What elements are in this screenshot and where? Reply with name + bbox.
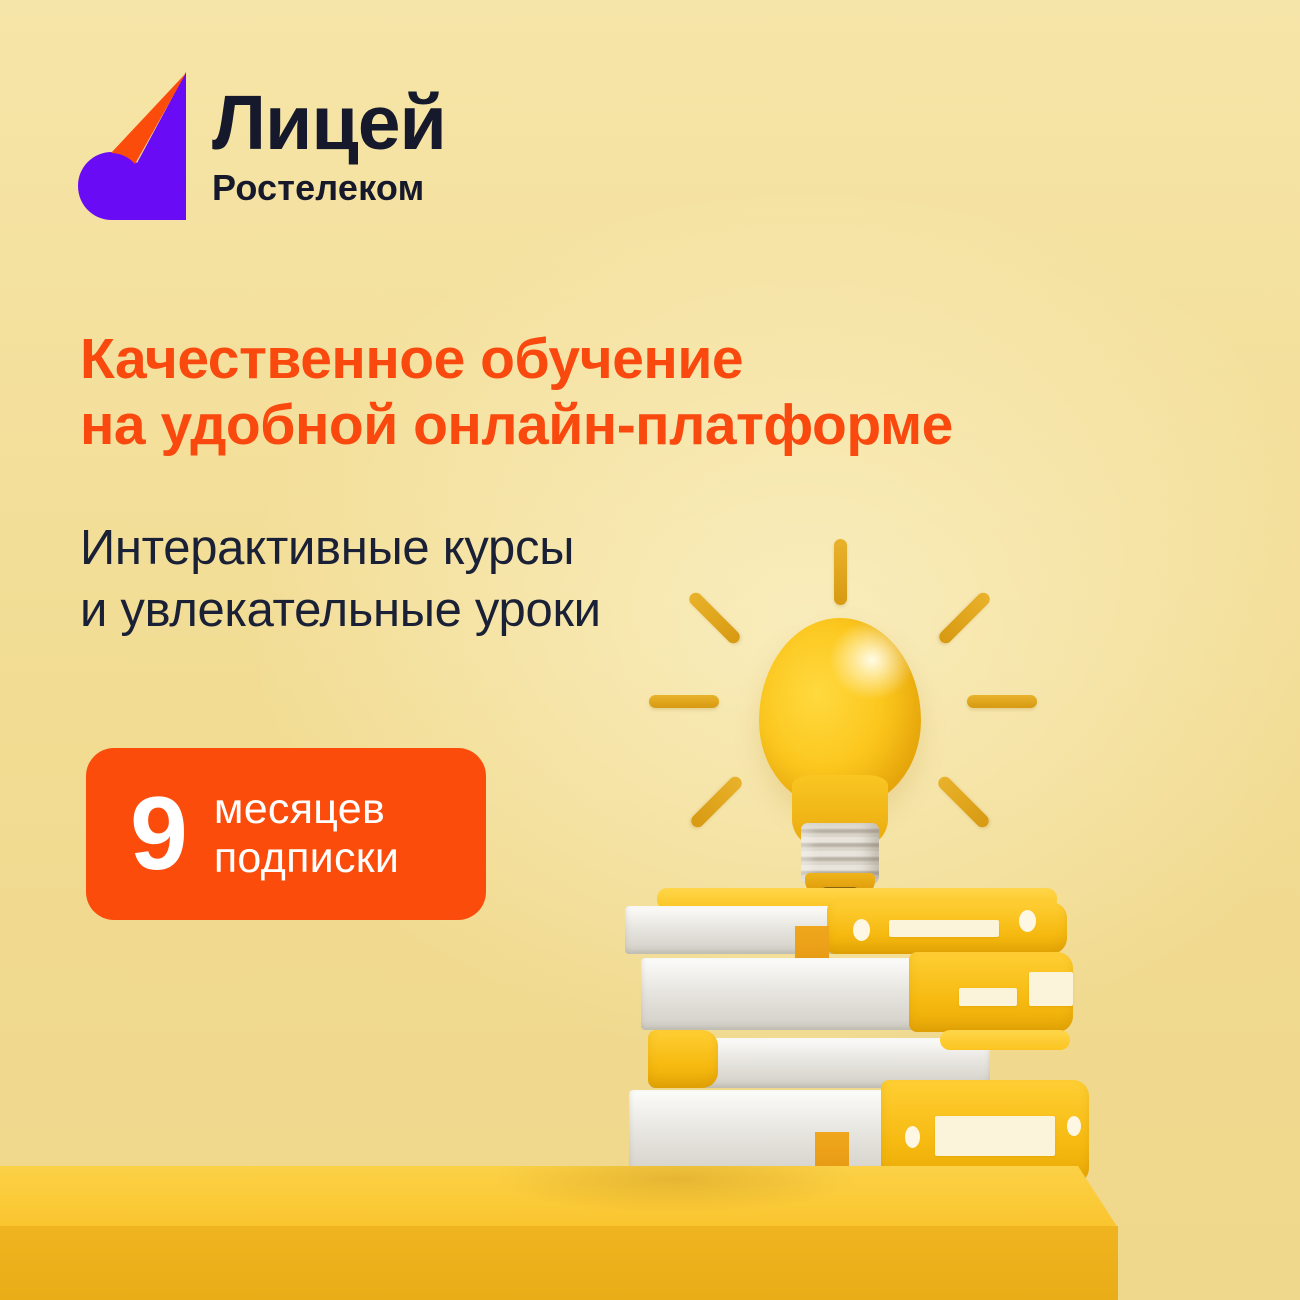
book-pages <box>641 958 931 1030</box>
book-cover <box>940 1030 1070 1050</box>
lightbulb-ray-upper-right <box>937 590 993 646</box>
book-item <box>633 952 1083 1034</box>
book-stack-icon <box>595 880 1085 1180</box>
table-front-face <box>0 1226 1120 1300</box>
subheadline-line-2: и увлекательные уроки <box>80 580 601 642</box>
lightbulb-ray-left <box>649 695 719 708</box>
spine-label <box>935 1116 1055 1156</box>
badge-text: месяцев подписки <box>214 785 399 882</box>
subheadline: Интерактивные курсы и увлекательные урок… <box>80 518 601 641</box>
table-platform <box>0 1166 1120 1300</box>
spine-dot <box>853 919 870 941</box>
subscription-badge[interactable]: 9 месяцев подписки <box>86 748 486 920</box>
headline-line-2: на удобной онлайн-платформе <box>80 392 953 458</box>
headline-line-1: Качественное обучение <box>80 326 953 392</box>
lightbulb-ray-top <box>834 539 847 605</box>
headline: Качественное обучение на удобной онлайн-… <box>80 326 953 458</box>
book-spine <box>909 952 1073 1032</box>
spine-label <box>889 920 999 937</box>
lightbulb-ray-upper-left <box>687 590 743 646</box>
promo-banner: Лицей Ростелеком Качественное обучение н… <box>0 0 1300 1300</box>
book-spine <box>827 902 1067 954</box>
brand-title: Лицей <box>212 88 446 159</box>
brand-logo-text: Лицей Ростелеком <box>212 72 446 206</box>
table-shadow <box>460 1166 890 1228</box>
book-item <box>617 888 1067 954</box>
badge-line-1: месяцев <box>214 785 399 834</box>
lightbulb-ray-right <box>967 695 1037 708</box>
spine-label <box>1029 972 1073 1006</box>
brand-logo[interactable]: Лицей Ростелеком <box>78 72 446 220</box>
lightbulb-icon <box>655 525 1035 905</box>
spine-dot <box>1019 910 1036 932</box>
liceum-arrow-logo-icon <box>78 72 186 220</box>
spine-dot <box>1067 1116 1081 1136</box>
badge-line-2: подписки <box>214 834 399 883</box>
lightbulb-ray-lower-right <box>936 774 992 830</box>
brand-subtitle: Ростелеком <box>212 170 446 206</box>
spine-dot <box>905 1126 920 1148</box>
subheadline-line-1: Интерактивные курсы <box>80 518 601 580</box>
spine-label <box>959 988 1017 1006</box>
badge-number: 9 <box>130 782 186 886</box>
lightbulb-ray-lower-left <box>689 774 745 830</box>
